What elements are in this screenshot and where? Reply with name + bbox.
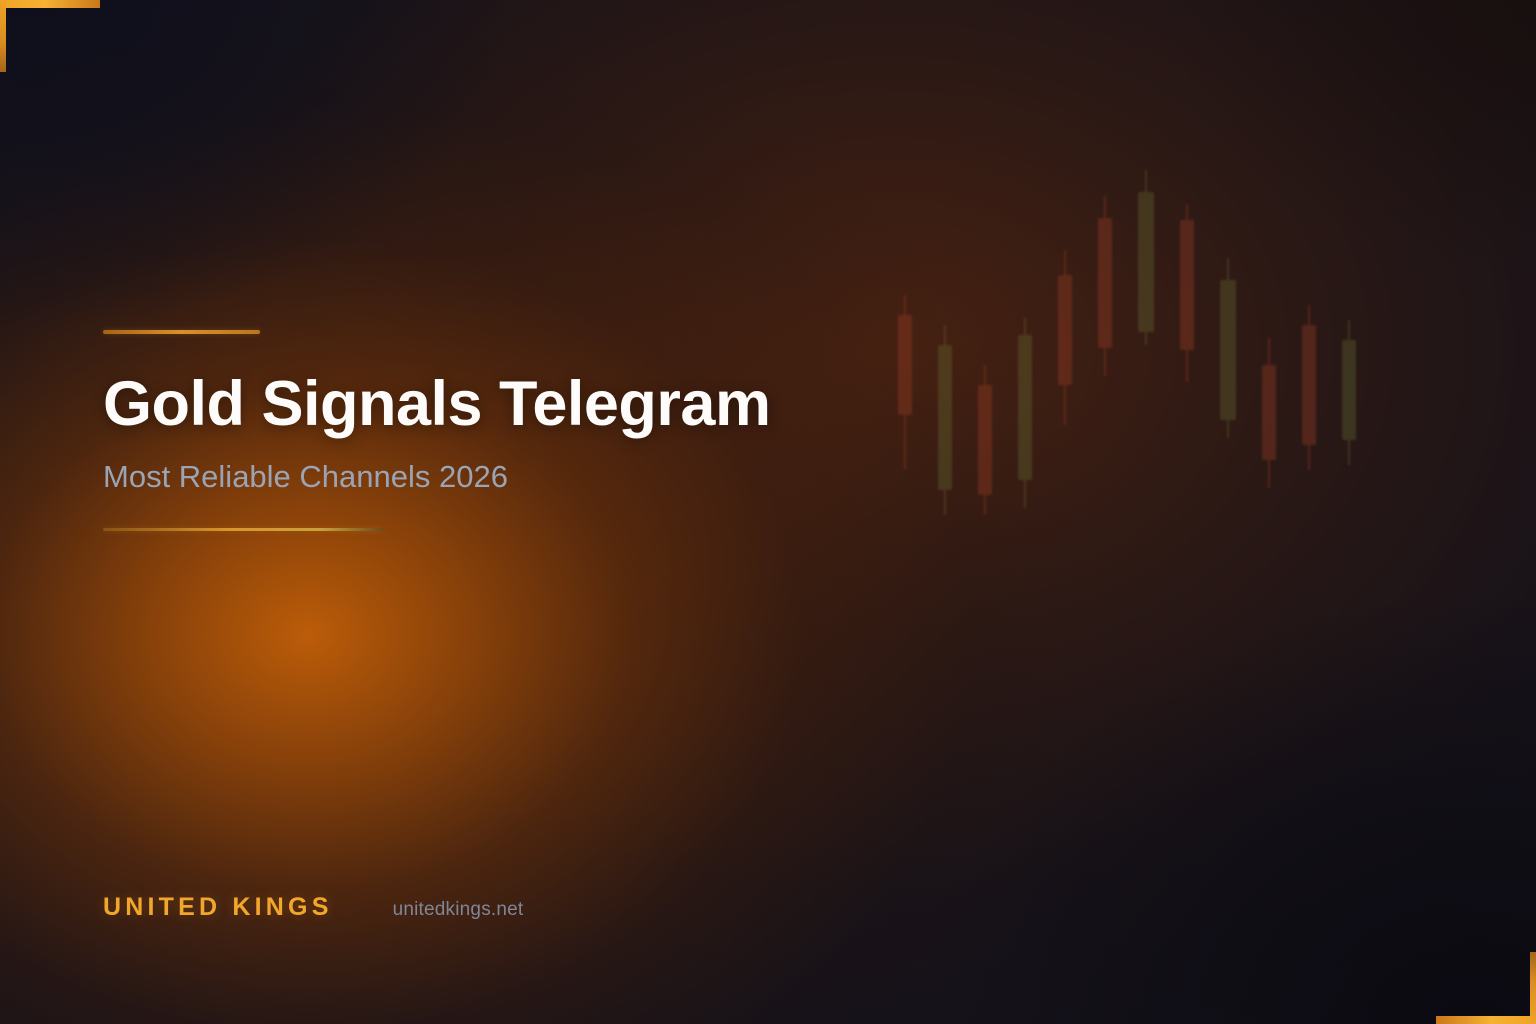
candlestick-body — [1058, 275, 1072, 385]
candlestick-wick — [1186, 204, 1188, 382]
candlestick-body — [1138, 192, 1154, 332]
candlestick-11 — [1302, 170, 1316, 530]
candlestick-wick — [1064, 250, 1066, 425]
candlestick-4 — [1018, 170, 1032, 530]
promo-banner: Gold Signals Telegram Most Reliable Chan… — [0, 0, 1536, 1024]
candlestick-5 — [1058, 170, 1072, 530]
candlestick-body — [1018, 335, 1032, 480]
hero-text-block: Gold Signals Telegram Most Reliable Chan… — [103, 330, 1003, 531]
corner-accent-bottom-right-vertical — [1530, 952, 1536, 1024]
candlestick-7 — [1138, 170, 1154, 530]
brand-name: UNITED KINGS — [103, 893, 333, 922]
corner-accent-top-left-vertical — [0, 0, 6, 72]
candlestick-body — [1262, 365, 1276, 460]
brand-website: unitedkings.net — [393, 899, 524, 921]
candlestick-6 — [1098, 170, 1112, 530]
candlestick-wick — [1145, 170, 1147, 345]
corner-accent-bottom-right-horizontal — [1436, 1016, 1536, 1024]
candlestick-body — [1180, 220, 1194, 350]
candlestick-12 — [1342, 170, 1356, 530]
candlestick-wick — [1104, 196, 1106, 376]
top-accent-rule — [103, 330, 260, 334]
corner-accent-top-left-horizontal — [0, 0, 100, 8]
bottom-accent-rule — [103, 528, 383, 531]
candlestick-wick — [1227, 258, 1229, 438]
candlestick-body — [1342, 340, 1356, 440]
candlestick-body — [1220, 280, 1236, 420]
candlestick-10 — [1262, 170, 1276, 530]
candlestick-body — [1098, 218, 1112, 348]
candlestick-body — [1302, 325, 1316, 445]
candlestick-wick — [1024, 318, 1026, 508]
candlestick-9 — [1220, 170, 1236, 530]
page-title: Gold Signals Telegram — [103, 372, 1003, 438]
candlestick-wick — [1308, 305, 1310, 470]
candlestick-8 — [1180, 170, 1194, 530]
candlestick-wick — [1348, 320, 1350, 465]
candlestick-wick — [1268, 338, 1270, 488]
brand-footer: UNITED KINGS unitedkings.net — [103, 893, 523, 922]
page-subtitle: Most Reliable Channels 2026 — [103, 458, 1003, 495]
